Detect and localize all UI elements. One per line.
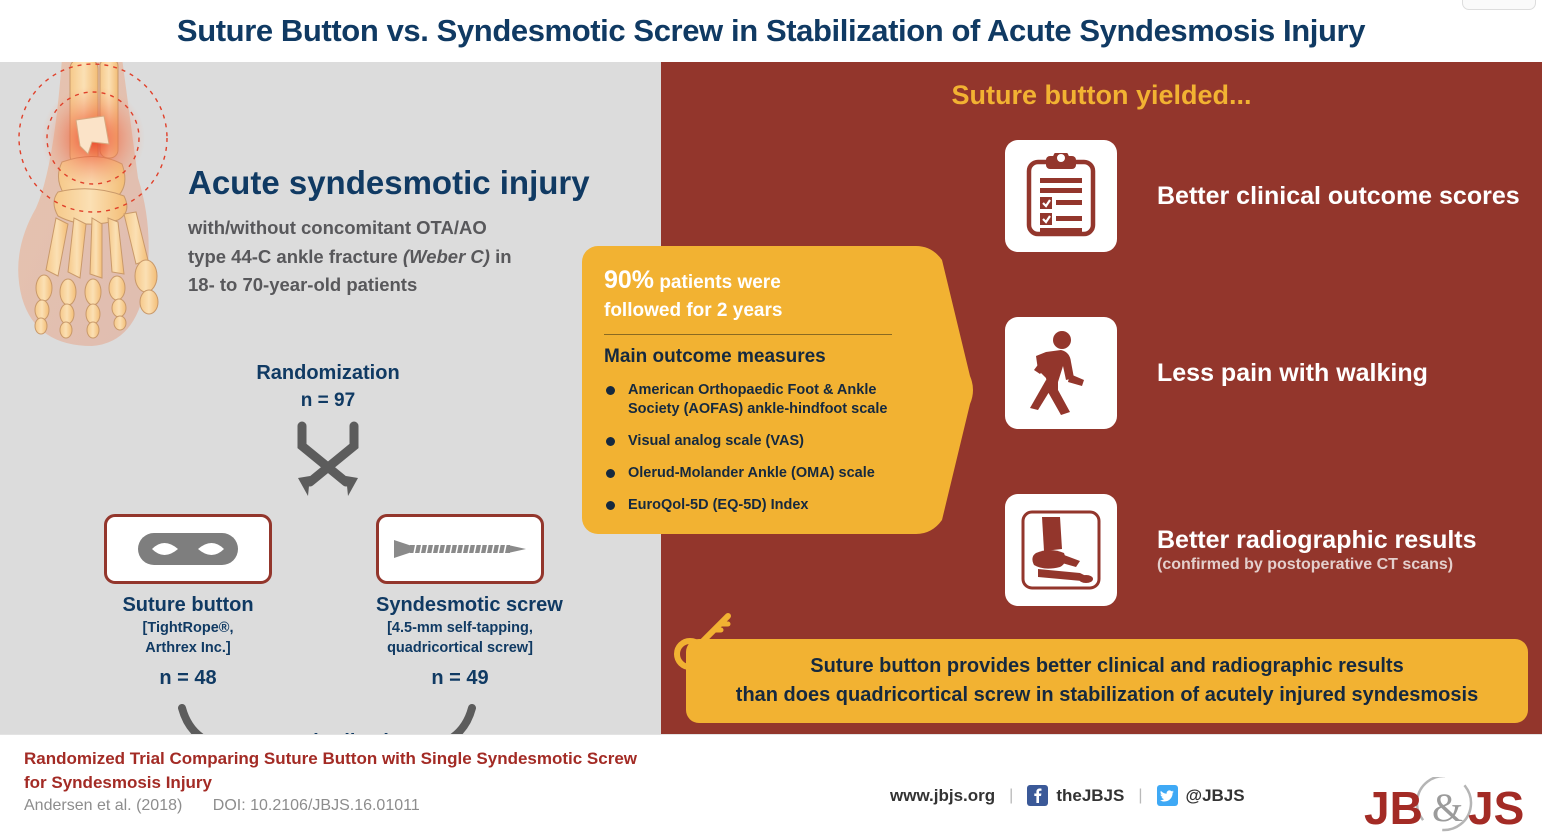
syndesmotic-screw-desc: [4.5-mm self-tapping, quadricortical scr…: [376, 619, 544, 658]
followup-stat-line2: followed for 2 years: [604, 298, 894, 324]
social-separator-2: |: [1138, 787, 1142, 805]
syndesmotic-screw-desc-1: [4.5-mm self-tapping,: [376, 619, 544, 639]
result-text-less-pain: Less pain with walking: [1157, 359, 1428, 388]
lead-heading: Acute syndesmotic injury: [188, 164, 590, 202]
corner-overlay-tab[interactable]: [1462, 0, 1536, 10]
jbjs-logo: JB & JS: [1362, 777, 1527, 833]
lead-sub-line-2-pre: type 44-C ankle fracture: [188, 246, 403, 267]
lead-sub-line-2: type 44-C ankle fracture (Weber C) in: [188, 243, 608, 272]
suture-button-desc-2: Arthrex Inc.]: [104, 639, 272, 659]
clipboard-checklist-icon-box: [1005, 140, 1117, 252]
lead-sub-line-2-post: in: [490, 246, 512, 267]
citation-title-line-2: for Syndesmosis Injury: [24, 771, 744, 795]
facebook-link[interactable]: theJBJS: [1027, 785, 1124, 806]
result-text-clinical-scores: Better clinical outcome scores: [1157, 182, 1520, 211]
citation-meta: Andersen et al. (2018) DOI: 10.2106/JBJS…: [24, 797, 420, 815]
result-subtitle-3: (confirmed by postoperative CT scans): [1157, 556, 1477, 574]
randomization-label: Randomization: [188, 362, 468, 385]
treatment-arm-suture-button: Suture button [TightRope®, Arthrex Inc.]…: [104, 514, 272, 690]
callout-arrow-shape: [882, 246, 974, 534]
suture-button-icon: [130, 529, 246, 569]
svg-text:JS: JS: [1468, 782, 1524, 833]
lead-subtext: with/without concomitant OTA/AO type 44-…: [188, 214, 608, 300]
website-link[interactable]: www.jbjs.org: [890, 786, 995, 806]
page-title: Suture Button vs. Syndesmotic Screw in S…: [177, 13, 1365, 49]
footer: Randomized Trial Comparing Suture Button…: [0, 734, 1542, 833]
lead-sub-line-1: with/without concomitant OTA/AO: [188, 214, 608, 243]
followup-percent: 90%: [604, 266, 654, 294]
infographic-page: Suture Button vs. Syndesmotic Screw in S…: [0, 0, 1542, 833]
list-item: American Orthopaedic Foot & Ankle Societ…: [604, 381, 894, 419]
citation-title: Randomized Trial Comparing Suture Button…: [24, 747, 744, 795]
suture-button-desc: [TightRope®, Arthrex Inc.]: [104, 619, 272, 658]
result-text-radiographic: Better radiographic results (confirmed b…: [1157, 526, 1477, 574]
followup-stat-text: patients were: [654, 272, 781, 293]
walking-person-icon: [1028, 330, 1094, 416]
lead-sub-line-3: 18- to 70-year-old patients: [188, 271, 608, 300]
walking-person-icon-box: [1005, 317, 1117, 429]
result-item-less-pain: Less pain with walking: [1005, 317, 1428, 429]
suture-button-desc-1: [TightRope®,: [104, 619, 272, 639]
twitter-icon: [1157, 785, 1178, 806]
citation-doi[interactable]: DOI: 10.2106/JBJS.16.01011: [213, 797, 420, 814]
foot-xray-icon: [1018, 507, 1104, 593]
facebook-icon: [1027, 785, 1048, 806]
randomization-count: n = 97: [188, 390, 468, 412]
result-title-3: Better radiographic results: [1157, 526, 1477, 555]
twitter-link[interactable]: @JBJS: [1157, 785, 1245, 806]
injured-foot-illustration: [0, 62, 196, 348]
result-title-1: Better clinical outcome scores: [1157, 182, 1520, 211]
conclusion-line-1: Suture button provides better clinical a…: [810, 652, 1403, 681]
suture-button-box: [104, 514, 272, 584]
conclusion-line-2: than does quadricortical screw in stabil…: [736, 681, 1478, 710]
conclusion-banner: Suture button provides better clinical a…: [686, 639, 1528, 723]
treatment-arm-syndesmotic-screw: Syndesmotic screw [4.5-mm self-tapping, …: [376, 514, 544, 690]
list-item: EuroQol-5D (EQ-5D) Index: [604, 496, 894, 515]
syndesmotic-screw-box: [376, 514, 544, 584]
citation-authors: Andersen et al. (2018): [24, 797, 182, 814]
results-heading: Suture button yielded...: [661, 80, 1542, 111]
suture-button-name: Suture button: [104, 594, 272, 617]
outcome-measures-title: Main outcome measures: [604, 346, 894, 368]
clipboard-checklist-icon: [1022, 153, 1100, 239]
rehab-arrow-left-icon: [176, 704, 242, 734]
randomization-cross-arrows-icon: [288, 420, 368, 510]
screw-icon: [390, 536, 530, 562]
foot-xray-icon-box: [1005, 494, 1117, 606]
lead-sub-weber: (Weber C): [403, 246, 490, 267]
title-bar: Suture Button vs. Syndesmotic Screw in S…: [0, 0, 1542, 62]
social-separator-1: |: [1009, 787, 1013, 805]
outcome-measures-list: American Orthopaedic Foot & Ankle Societ…: [604, 381, 894, 514]
followup-stat: 90% patients were followed for 2 years: [604, 264, 894, 323]
list-item: Olerud-Molander Ankle (OMA) scale: [604, 464, 894, 483]
svg-text:&: &: [1432, 785, 1463, 830]
result-title-2: Less pain with walking: [1157, 359, 1428, 388]
twitter-handle: @JBJS: [1186, 786, 1245, 806]
callout-content: 90% patients were followed for 2 years M…: [604, 264, 894, 528]
facebook-handle: theJBJS: [1056, 786, 1124, 806]
syndesmotic-screw-name: Syndesmotic screw: [376, 594, 544, 617]
suture-button-count: n = 48: [104, 667, 272, 690]
svg-text:JB: JB: [1364, 782, 1423, 833]
rehab-arrow-right-icon: [412, 704, 478, 734]
social-links: www.jbjs.org | theJBJS | @JBJS: [890, 785, 1245, 806]
syndesmotic-screw-desc-2: quadricortical screw]: [376, 639, 544, 659]
study-design-panel: Acute syndesmotic injury with/without co…: [0, 62, 661, 734]
outcome-measures-callout: 90% patients were followed for 2 years M…: [582, 246, 974, 534]
result-item-clinical-scores: Better clinical outcome scores: [1005, 140, 1520, 252]
citation-title-line-1: Randomized Trial Comparing Suture Button…: [24, 747, 744, 771]
list-item: Visual analog scale (VAS): [604, 432, 894, 451]
result-item-radiographic: Better radiographic results (confirmed b…: [1005, 494, 1477, 606]
callout-divider: [604, 334, 892, 335]
syndesmotic-screw-count: n = 49: [376, 667, 544, 690]
